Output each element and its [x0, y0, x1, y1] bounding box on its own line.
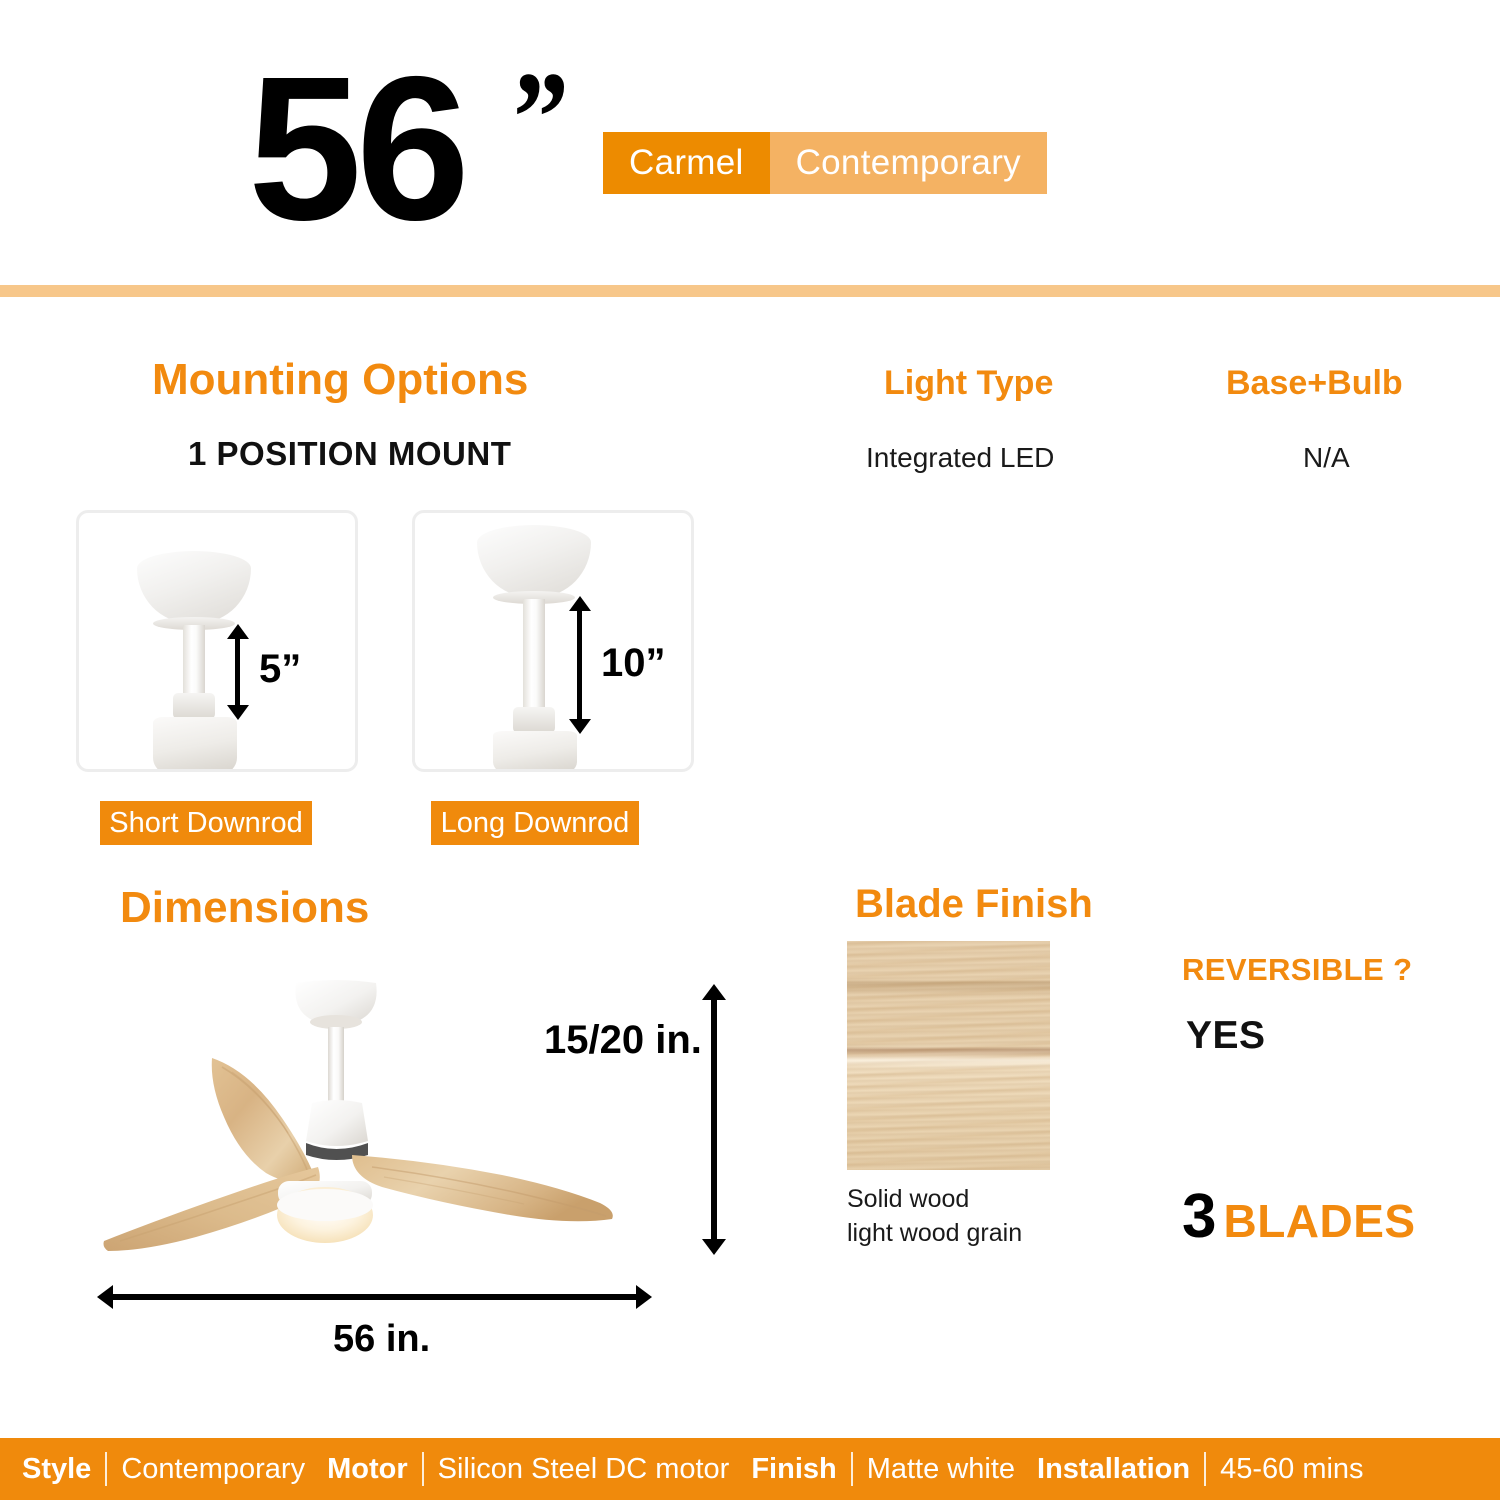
- reversible-value: YES: [1186, 1016, 1266, 1055]
- footer-key-style: Style: [22, 1453, 91, 1486]
- long-downrod-card: 10”: [412, 510, 694, 772]
- model-name-label: Carmel: [603, 132, 770, 194]
- inch-mark-icon: ”: [513, 52, 569, 184]
- mounting-options-title: Mounting Options: [152, 358, 528, 402]
- footer-value-motor: Silicon Steel DC motor: [438, 1453, 730, 1486]
- wood-finish-swatch: [847, 941, 1050, 1170]
- fan-width-arrow: [111, 1294, 638, 1300]
- base-bulb-value: N/A: [1303, 440, 1350, 475]
- model-style-badge: Carmel Contemporary: [603, 132, 1047, 194]
- long-downrod-illustration: 10”: [415, 513, 691, 769]
- light-type-title: Light Type: [884, 366, 1053, 400]
- fan-width-label: 56 in.: [333, 1318, 430, 1361]
- light-type-value: Integrated LED: [866, 440, 1054, 475]
- footer-divider: [422, 1452, 424, 1486]
- footer-spec-bar: Style Contemporary Motor Silicon Steel D…: [0, 1438, 1500, 1500]
- footer-divider: [105, 1452, 107, 1486]
- footer-value-style: Contemporary: [121, 1453, 305, 1486]
- footer-value-finish: Matte white: [867, 1453, 1015, 1486]
- footer-key-motor: Motor: [327, 1453, 408, 1486]
- short-downrod-illustration: 5”: [79, 513, 355, 769]
- infographic-page: 56 ” Carmel Contemporary Mounting Option…: [0, 0, 1500, 1500]
- blade-count-word: BLADES: [1223, 1195, 1415, 1247]
- footer-value-installation: 45-60 mins: [1220, 1453, 1363, 1486]
- reversible-title: REVERSIBLE ?: [1182, 954, 1412, 985]
- footer-key-installation: Installation: [1037, 1453, 1190, 1486]
- blade-finish-title: Blade Finish: [855, 884, 1093, 924]
- footer-divider: [851, 1452, 853, 1486]
- footer-divider: [1204, 1452, 1206, 1486]
- blade-count-line: 3BLADES: [1182, 1186, 1416, 1248]
- wood-finish-caption: Solid wood light wood grain: [847, 1183, 1022, 1251]
- short-downrod-dimension-label: 5”: [259, 649, 301, 689]
- short-downrod-badge: Short Downrod: [100, 801, 312, 845]
- mount-position-label: 1 POSITION MOUNT: [188, 437, 511, 470]
- fan-height-label: 15/20 in.: [544, 1018, 702, 1063]
- blade-count-number: 3: [1182, 1182, 1216, 1251]
- fan-height-arrow: [711, 998, 717, 1241]
- long-downrod-dimension-label: 10”: [601, 643, 666, 683]
- header: 56 ” Carmel Contemporary: [0, 0, 1500, 286]
- header-divider: [0, 285, 1500, 297]
- base-bulb-title: Base+Bulb: [1226, 366, 1403, 400]
- long-downrod-badge: Long Downrod: [431, 801, 639, 845]
- dimensions-title: Dimensions: [120, 886, 369, 930]
- fan-size-number: 56: [248, 46, 464, 251]
- short-downrod-dimension-arrow: [235, 637, 240, 707]
- footer-key-finish: Finish: [751, 1453, 836, 1486]
- short-downrod-card: 5”: [76, 510, 358, 772]
- style-name-label: Contemporary: [770, 132, 1047, 194]
- long-downrod-dimension-arrow: [577, 609, 582, 721]
